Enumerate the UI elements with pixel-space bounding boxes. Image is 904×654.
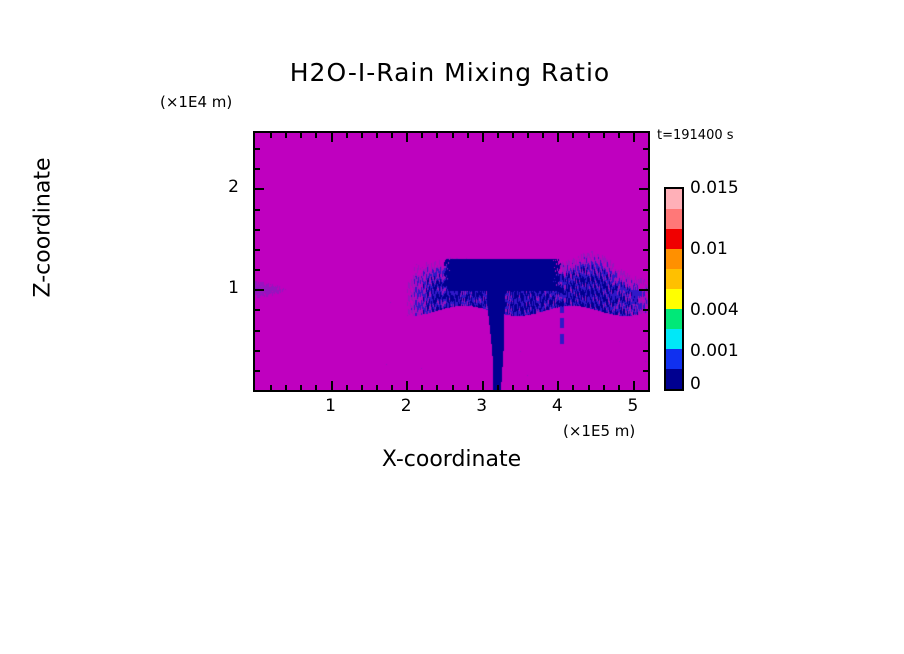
tick-mark	[588, 385, 590, 390]
tick-mark	[648, 133, 650, 138]
tick-mark	[255, 188, 264, 190]
tick-mark	[643, 370, 648, 372]
colorbar-band	[666, 369, 682, 389]
tick-mark	[300, 133, 302, 138]
tick-mark	[391, 133, 393, 138]
chart-title: H2O-I-Rain Mixing Ratio	[0, 58, 902, 87]
x-axis-unit: (×1E5 m)	[563, 422, 635, 440]
tick-mark	[406, 133, 408, 142]
tick-mark	[406, 381, 408, 390]
tick-mark	[618, 385, 620, 390]
tick-mark	[512, 385, 514, 390]
tick-mark	[436, 133, 438, 138]
tick-mark	[255, 249, 260, 251]
tick-mark	[633, 381, 635, 390]
tick-mark	[497, 133, 499, 138]
x-tick-label: 4	[542, 396, 572, 416]
tick-mark	[452, 385, 454, 390]
colorbar-band	[666, 249, 682, 269]
tick-mark	[572, 385, 574, 390]
tick-mark	[643, 249, 648, 251]
tick-mark	[331, 133, 333, 142]
tick-mark	[633, 133, 635, 142]
tick-mark	[482, 381, 484, 390]
y-tick-label: 1	[215, 278, 239, 298]
heatmap-plot-area	[253, 131, 650, 392]
tick-mark	[270, 133, 272, 138]
tick-mark	[255, 269, 260, 271]
tick-mark	[255, 289, 264, 291]
colorbar-tick-label: 0	[690, 374, 701, 394]
tick-mark	[391, 385, 393, 390]
y-axis-unit: (×1E4 m)	[160, 93, 232, 111]
tick-mark	[527, 133, 529, 138]
tick-mark	[421, 133, 423, 138]
y-axis-label: Z-coordinate	[31, 133, 56, 323]
colorbar-band	[666, 209, 682, 229]
tick-mark	[361, 133, 363, 138]
tick-mark	[643, 269, 648, 271]
tick-mark	[300, 385, 302, 390]
tick-mark	[643, 168, 648, 170]
colorbar-band	[666, 269, 682, 289]
tick-mark	[270, 385, 272, 390]
colorbar-tick-label: 0.015	[690, 178, 739, 198]
tick-mark	[639, 289, 648, 291]
colorbar-band	[666, 329, 682, 349]
colorbar-tick-label: 0.01	[690, 239, 728, 259]
colorbar-band	[666, 289, 682, 309]
tick-mark	[255, 370, 260, 372]
tick-mark	[436, 385, 438, 390]
tick-mark	[482, 133, 484, 142]
colorbar-tick-label: 0.004	[690, 300, 739, 320]
tick-mark	[643, 209, 648, 211]
tick-mark	[542, 133, 544, 138]
x-tick-label: 5	[618, 396, 648, 416]
tick-mark	[603, 133, 605, 138]
colorbar-tick-label: 0.001	[690, 341, 739, 361]
time-annotation: t=191400 s	[657, 128, 734, 143]
x-axis-label: X-coordinate	[253, 447, 650, 472]
y-tick-label: 2	[215, 177, 239, 197]
tick-mark	[255, 350, 260, 352]
tick-mark	[285, 385, 287, 390]
tick-mark	[376, 385, 378, 390]
colorbar	[664, 187, 684, 391]
colorbar-band	[666, 349, 682, 369]
tick-mark	[643, 330, 648, 332]
tick-mark	[421, 385, 423, 390]
tick-mark	[643, 309, 648, 311]
x-tick-label: 3	[467, 396, 497, 416]
tick-mark	[572, 133, 574, 138]
tick-mark	[315, 133, 317, 138]
tick-mark	[557, 381, 559, 390]
colorbar-band	[666, 309, 682, 329]
tick-mark	[285, 133, 287, 138]
tick-mark	[588, 133, 590, 138]
tick-mark	[618, 133, 620, 138]
tick-mark	[255, 168, 260, 170]
heatmap-canvas	[255, 133, 648, 390]
tick-mark	[452, 133, 454, 138]
tick-mark	[255, 229, 260, 231]
colorbar-band	[666, 229, 682, 249]
tick-mark	[376, 133, 378, 138]
tick-mark	[603, 385, 605, 390]
tick-mark	[361, 385, 363, 390]
tick-mark	[255, 309, 260, 311]
tick-mark	[315, 385, 317, 390]
tick-mark	[255, 148, 260, 150]
colorbar-band	[666, 189, 682, 209]
x-tick-label: 2	[391, 396, 421, 416]
tick-mark	[512, 133, 514, 138]
x-tick-label: 1	[316, 396, 346, 416]
tick-mark	[527, 385, 529, 390]
tick-mark	[648, 385, 650, 390]
tick-mark	[497, 385, 499, 390]
tick-mark	[643, 350, 648, 352]
tick-mark	[346, 385, 348, 390]
tick-mark	[331, 381, 333, 390]
tick-mark	[643, 229, 648, 231]
tick-mark	[255, 330, 260, 332]
tick-mark	[346, 133, 348, 138]
tick-mark	[557, 133, 559, 142]
tick-mark	[467, 385, 469, 390]
tick-mark	[467, 133, 469, 138]
tick-mark	[542, 385, 544, 390]
tick-mark	[643, 148, 648, 150]
tick-mark	[639, 188, 648, 190]
tick-mark	[255, 209, 260, 211]
